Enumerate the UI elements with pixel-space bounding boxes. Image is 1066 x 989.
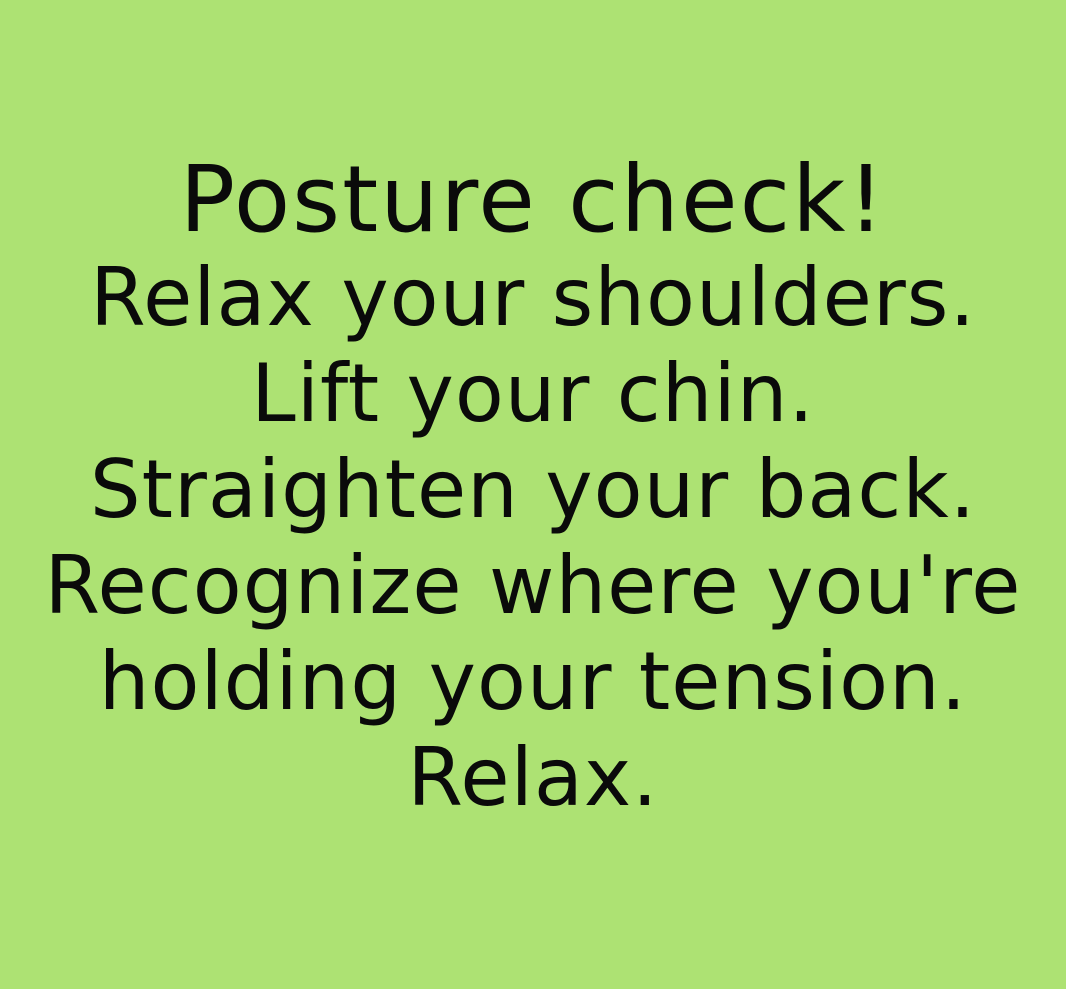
quote-poster: Posture check! Relax your shoulders. Lif… [0, 0, 1066, 989]
quote-text-block: Posture check! Relax your shoulders. Lif… [0, 0, 1066, 826]
headline-posture-check: Posture check! [0, 150, 1066, 250]
quote-line-lift-your-chin: Lift your chin. [0, 346, 1066, 442]
quote-line-relax: Relax. [0, 730, 1066, 826]
quote-line-holding-your-tension: holding your tension. [0, 634, 1066, 730]
quote-line-straighten-your-back: Straighten your back. [0, 442, 1066, 538]
quote-line-recognize-where-youre: Recognize where you're [0, 538, 1066, 634]
quote-line-relax-your-shoulders: Relax your shoulders. [0, 250, 1066, 346]
